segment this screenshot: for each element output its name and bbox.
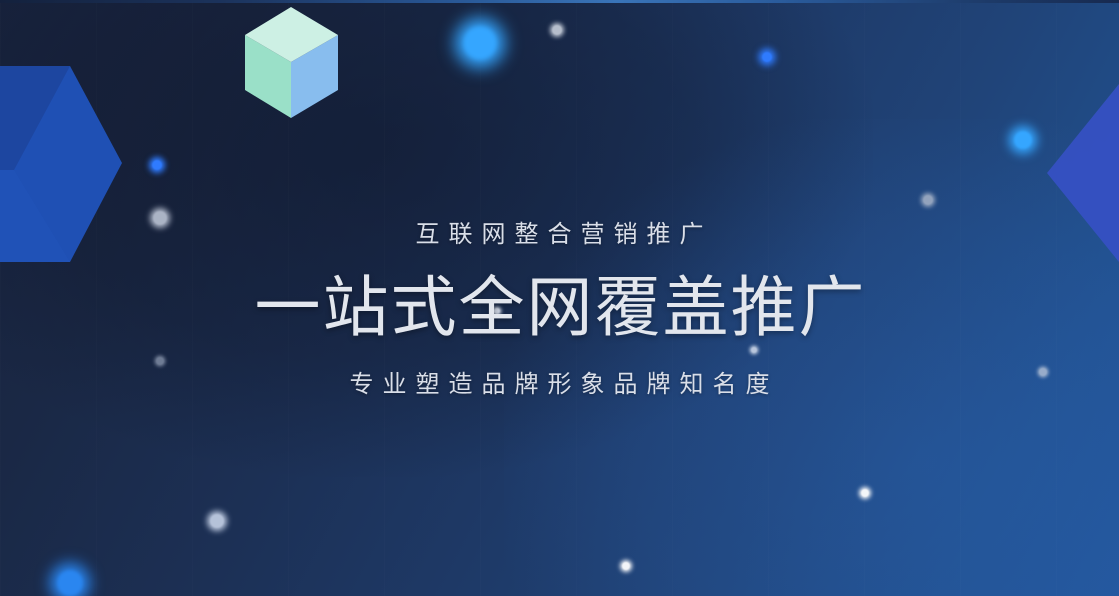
eyebrow-text: 互联网整合营销推广: [0, 218, 1119, 252]
top-edge-strip: [0, 0, 1119, 3]
hero-copy: 互联网整合营销推广 一站式全网覆盖推广 专业塑造品牌形象品牌知名度: [0, 218, 1119, 402]
page-title: 一站式全网覆盖推广: [0, 264, 1119, 350]
subtitle-text: 专业塑造品牌形象品牌知名度: [0, 368, 1119, 402]
hero-banner: 互联网整合营销推广 一站式全网覆盖推广 专业塑造品牌形象品牌知名度: [0, 0, 1119, 596]
